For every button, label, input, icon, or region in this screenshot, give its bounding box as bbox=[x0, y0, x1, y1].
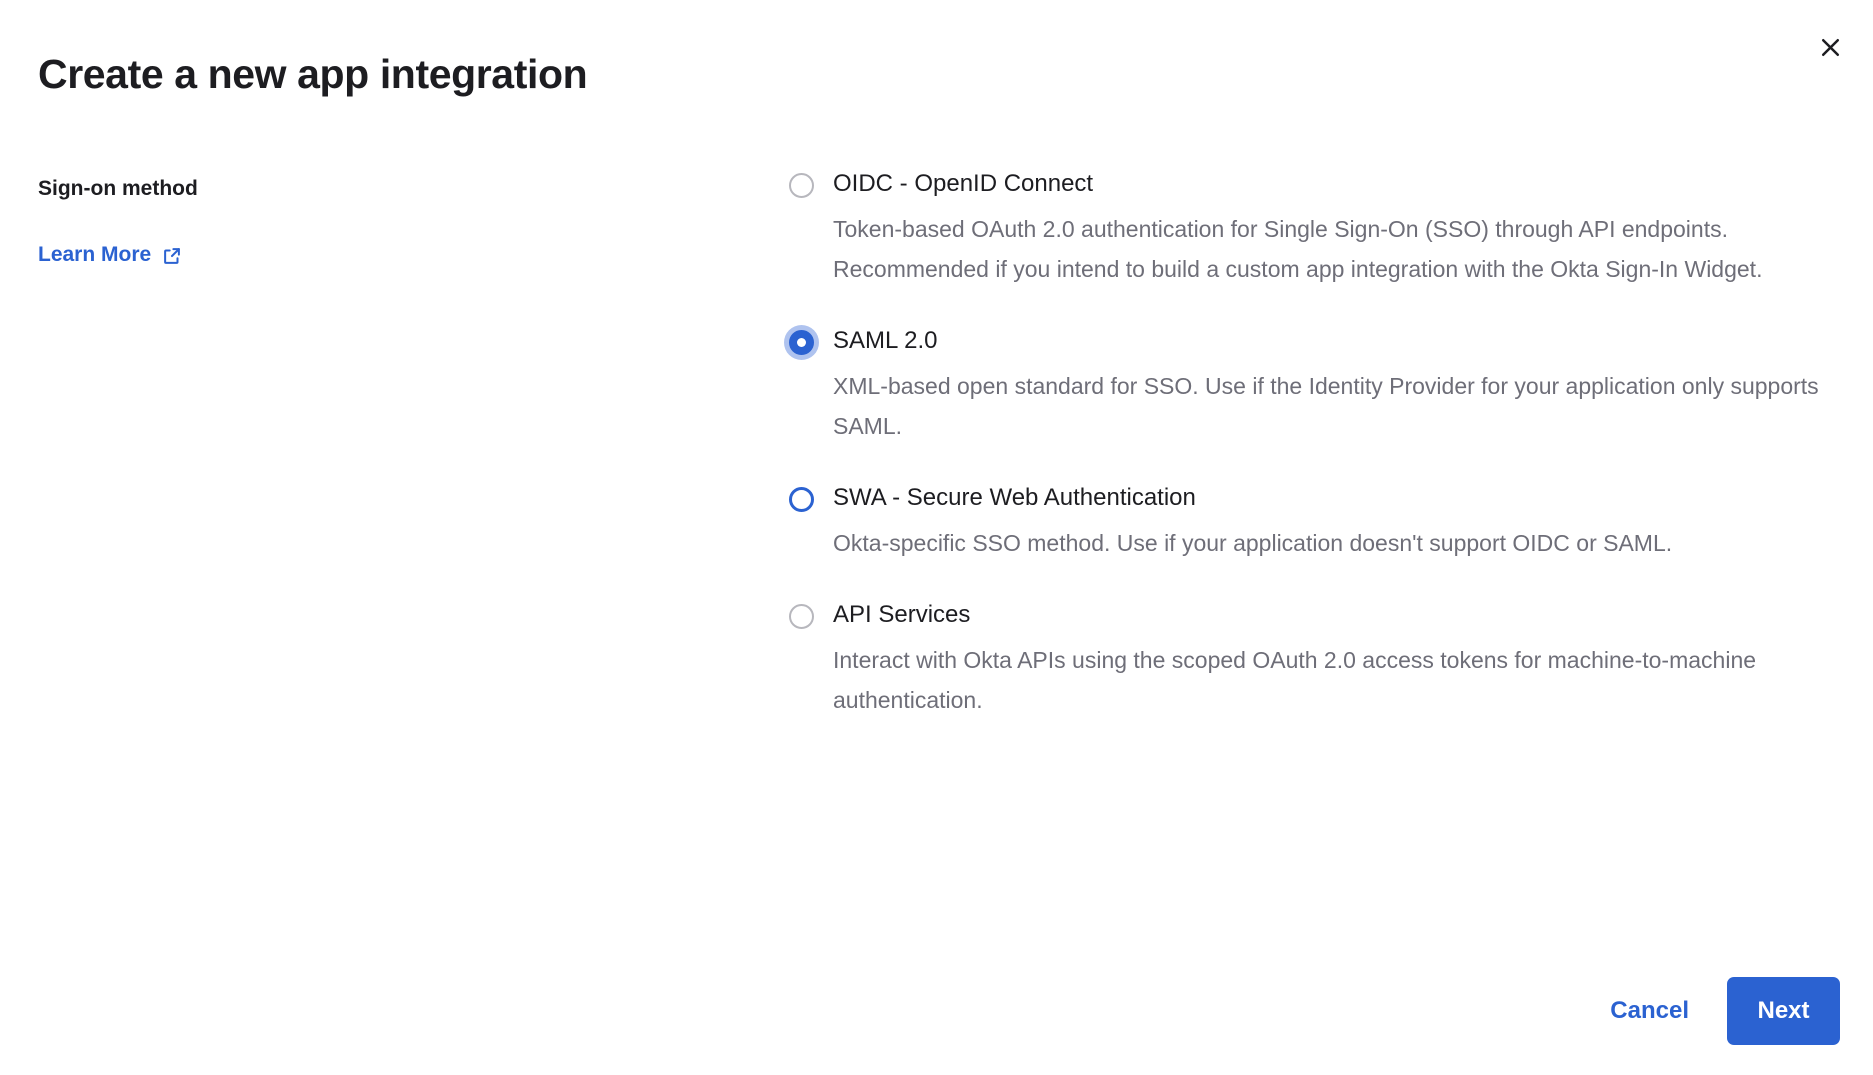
radio-option-swa-description: Okta-specific SSO method. Use if your ap… bbox=[833, 523, 1830, 563]
close-icon bbox=[1818, 35, 1843, 60]
close-dialog-button[interactable] bbox=[1807, 24, 1853, 70]
dialog-footer: Cancel Next bbox=[1606, 977, 1840, 1045]
learn-more-link[interactable]: Learn More bbox=[38, 241, 183, 269]
radio-option-saml-description: XML-based open standard for SSO. Use if … bbox=[833, 366, 1830, 446]
radio-option-oidc-description: Token-based OAuth 2.0 authentication for… bbox=[833, 209, 1830, 289]
radio-option-api-services-description: Interact with Okta APIs using the scoped… bbox=[833, 640, 1830, 720]
page-title: Create a new app integration bbox=[38, 48, 587, 100]
sign-on-method-panel: Sign-on method Learn More bbox=[38, 175, 598, 269]
radio-option-api-services[interactable]: API Services Interact with Okta APIs usi… bbox=[770, 599, 1830, 720]
sign-on-method-radio-group[interactable]: OIDC - OpenID Connect Token-based OAuth … bbox=[770, 168, 1830, 720]
learn-more-label: Learn More bbox=[38, 241, 151, 269]
cancel-button[interactable]: Cancel bbox=[1606, 987, 1693, 1035]
radio-indicator-saml[interactable] bbox=[789, 330, 814, 355]
radio-indicator-api-services[interactable] bbox=[789, 604, 814, 629]
radio-indicator-oidc[interactable] bbox=[789, 173, 814, 198]
sign-on-method-label: Sign-on method bbox=[38, 175, 598, 203]
radio-option-saml-label: SAML 2.0 bbox=[833, 325, 1830, 357]
radio-option-api-services-label: API Services bbox=[833, 599, 1830, 631]
radio-option-swa[interactable]: SWA - Secure Web Authentication Okta-spe… bbox=[770, 482, 1830, 563]
radio-option-saml[interactable]: SAML 2.0 XML-based open standard for SSO… bbox=[770, 325, 1830, 446]
radio-option-oidc-label: OIDC - OpenID Connect bbox=[833, 168, 1830, 200]
external-link-icon bbox=[161, 245, 183, 267]
radio-option-swa-label: SWA - Secure Web Authentication bbox=[833, 482, 1830, 514]
radio-indicator-swa[interactable] bbox=[789, 487, 814, 512]
next-button[interactable]: Next bbox=[1727, 977, 1840, 1045]
radio-option-oidc[interactable]: OIDC - OpenID Connect Token-based OAuth … bbox=[770, 168, 1830, 289]
